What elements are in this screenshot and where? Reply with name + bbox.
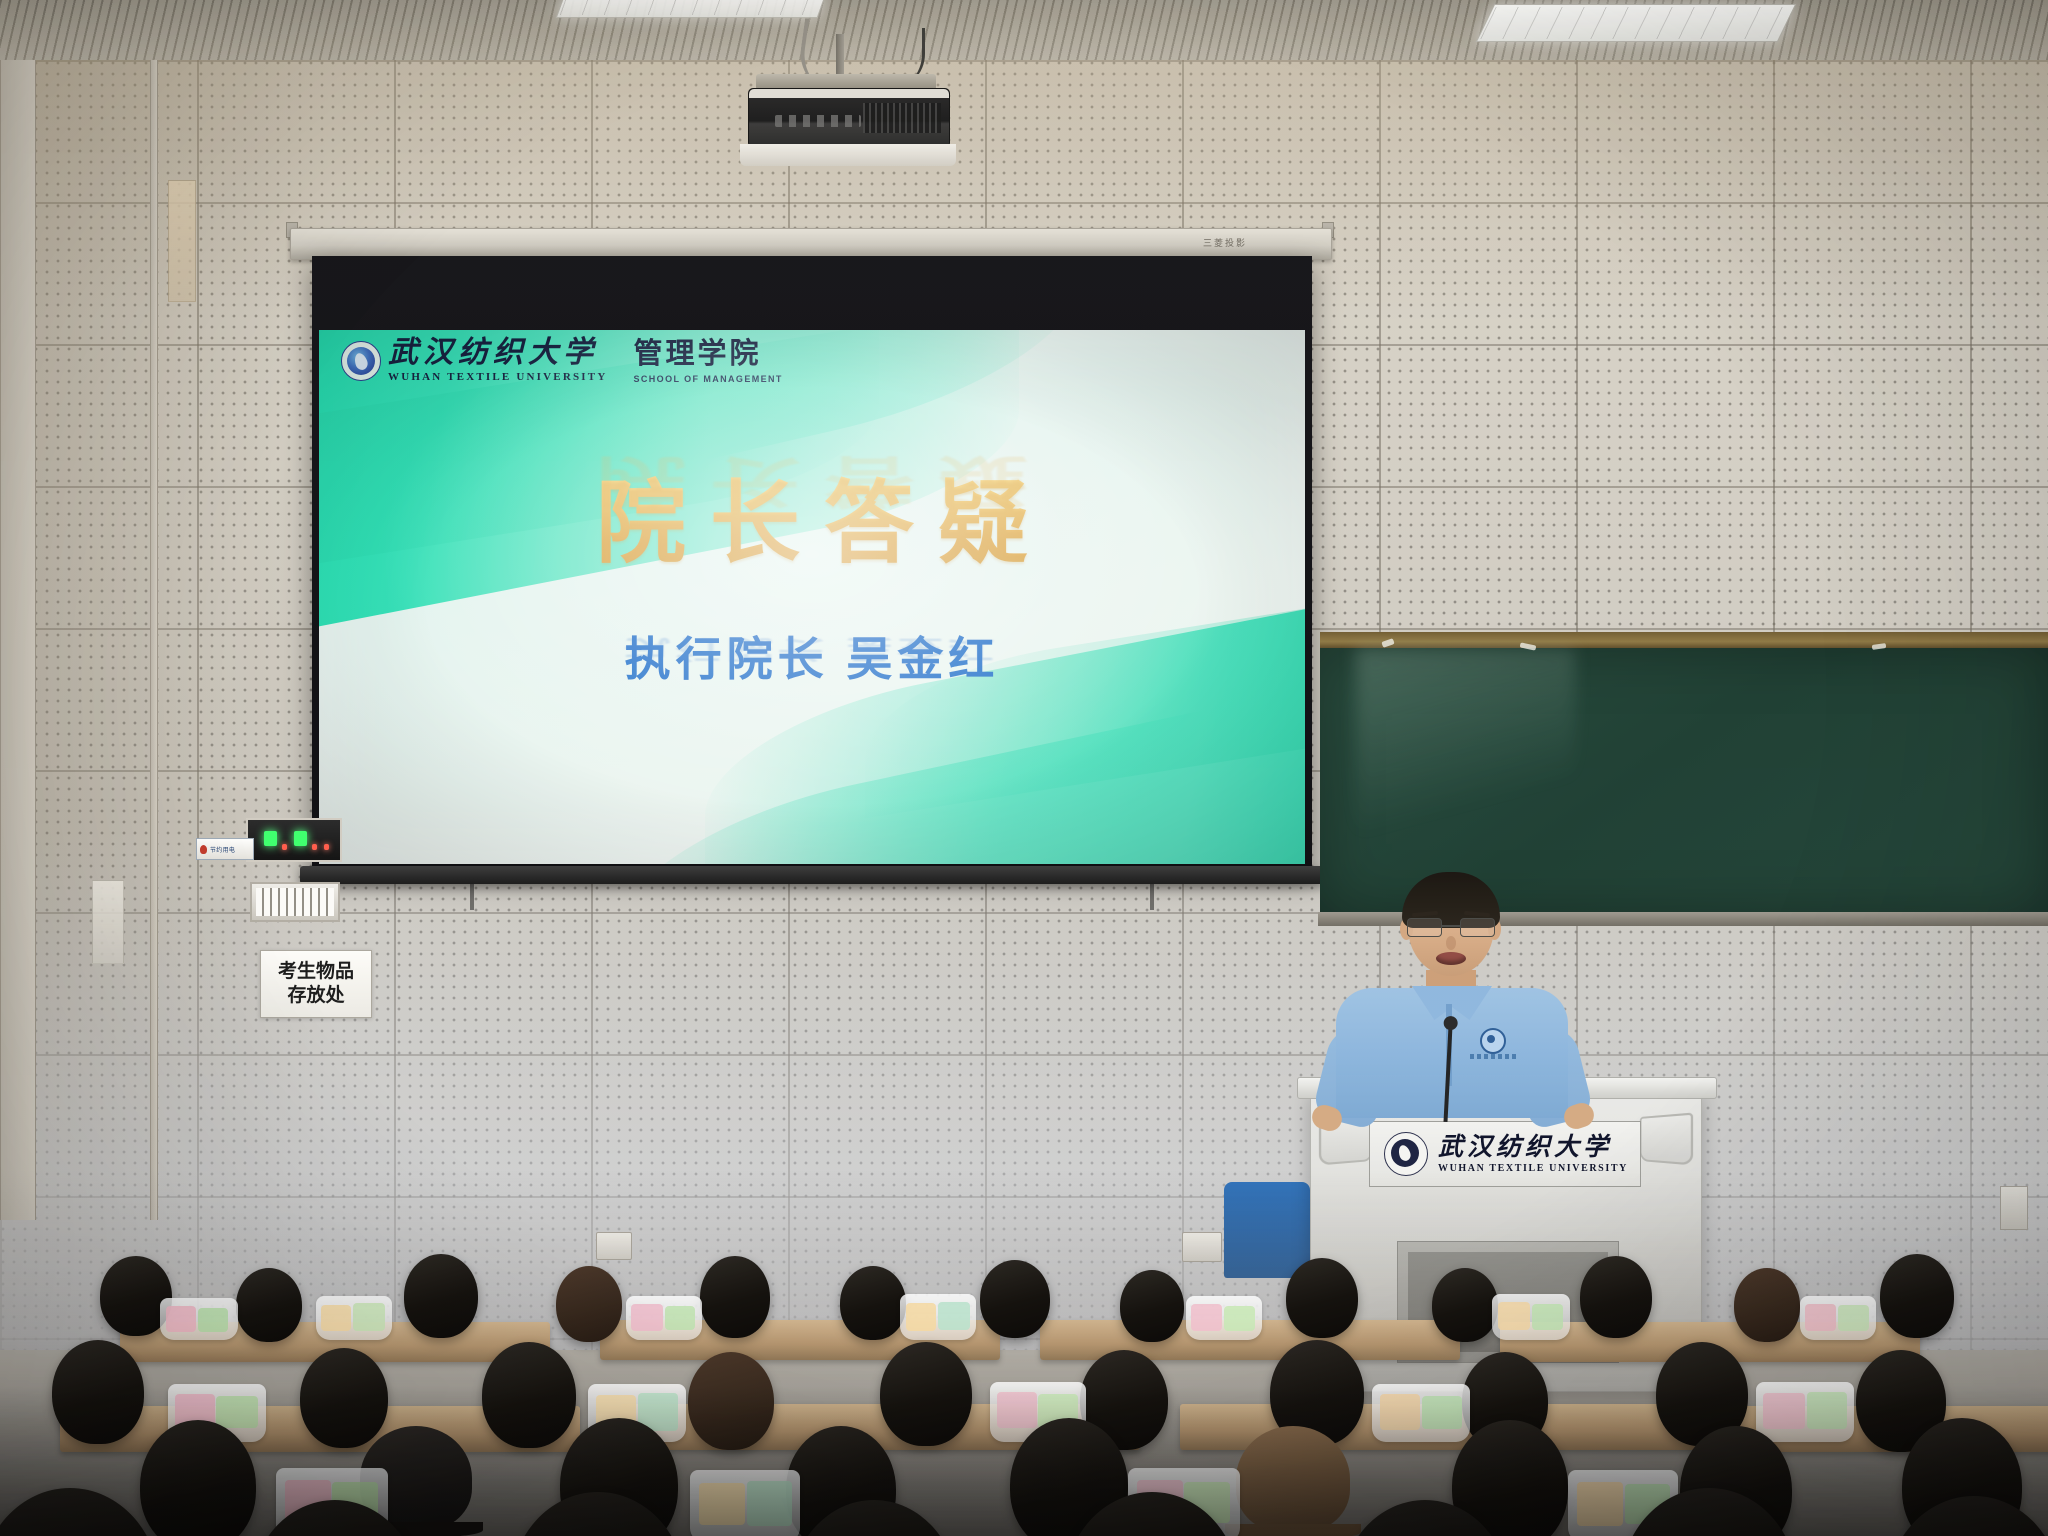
bag-item: [166, 1306, 196, 1332]
bag-item: [1805, 1304, 1836, 1331]
breaker-box[interactable]: [250, 882, 340, 922]
school-name-cn: 管理学院: [633, 340, 782, 369]
light-grid: [1480, 7, 1792, 39]
blackboard-top-rail: [1320, 632, 2048, 648]
bag-item: [699, 1483, 745, 1525]
projector-ports: [775, 115, 861, 127]
bag-item: [1498, 1302, 1530, 1330]
podium-university-cn: 武汉纺织大学: [1438, 1135, 1628, 1160]
belongings-bag: [160, 1298, 238, 1340]
bag-item: [997, 1392, 1037, 1428]
bag-item: [1763, 1393, 1805, 1429]
projected-slide: 武汉纺织大学 WUHAN TEXTILE UNIVERSITY 管理学院 SCH…: [319, 330, 1305, 864]
screen-bottom-bar: [300, 866, 1324, 884]
speaker-mouth: [1436, 952, 1466, 965]
bag-item: [1191, 1304, 1222, 1331]
glasses-lens-left: [1407, 918, 1442, 937]
school-name-en: SCHOOL OF MANAGEMENT: [633, 375, 782, 384]
bag-item: [321, 1305, 351, 1331]
bag-item: [1532, 1304, 1563, 1330]
indicator-led-red-2: [312, 844, 317, 850]
bag-item: [353, 1303, 385, 1331]
indicator-led-green-2: [294, 831, 307, 846]
audience-head: [1880, 1254, 1954, 1338]
bag-item: [747, 1481, 792, 1526]
audience-head: [840, 1266, 906, 1340]
slide-header: 武汉纺织大学 WUHAN TEXTILE UNIVERSITY 管理学院 SCH…: [341, 338, 783, 384]
audience-head: [404, 1254, 478, 1338]
speaker-glasses-icon: [1406, 918, 1496, 936]
belongings-bag: [1372, 1384, 1470, 1442]
speaker-person: [1330, 878, 1570, 1110]
indicator-led-red-3: [324, 844, 329, 850]
audience-head: [1120, 1270, 1184, 1342]
university-names: 武汉纺织大学 WUHAN TEXTILE UNIVERSITY: [388, 338, 607, 383]
bag-item: [906, 1303, 936, 1331]
belongings-bag: [900, 1294, 976, 1340]
audience-head: [52, 1340, 144, 1444]
speaker-shirt-logo-text: [1470, 1054, 1518, 1059]
speaker-shirt-logo-icon: [1480, 1028, 1506, 1054]
save-power-sign: 节约用电: [196, 838, 254, 860]
audience-head: [1580, 1256, 1652, 1338]
bag-item: [216, 1396, 258, 1428]
speaker-nose: [1446, 936, 1456, 950]
indicator-led-green-1: [264, 831, 277, 846]
podium-names: 武汉纺织大学 WUHAN TEXTILE UNIVERSITY: [1438, 1135, 1628, 1174]
exam-storage-line2: 存放处: [287, 984, 344, 1008]
audience-head: [1286, 1258, 1358, 1338]
exam-storage-line1: 考生物品: [278, 960, 354, 984]
bag-item: [1380, 1394, 1420, 1430]
belongings-bag: [626, 1296, 702, 1340]
slide-title: 院长答疑: [319, 450, 1305, 580]
audience-head: [880, 1342, 972, 1446]
bag-item: [1422, 1396, 1462, 1429]
bag-item: [631, 1304, 663, 1331]
belongings-bag: [690, 1470, 800, 1536]
belongings-bag: [1492, 1294, 1570, 1340]
podium-side-right: [1640, 1113, 1693, 1166]
audience-head: [700, 1256, 770, 1338]
bag-item: [1224, 1306, 1255, 1331]
indicator-led-red-1: [282, 844, 287, 850]
university-branding: 武汉纺织大学 WUHAN TEXTILE UNIVERSITY: [341, 338, 607, 383]
audience-head: [482, 1342, 576, 1448]
ceiling-projector: [748, 88, 950, 148]
university-name-en: WUHAN TEXTILE UNIVERSITY: [388, 372, 607, 383]
wall-strip-2: [150, 60, 158, 1220]
audience-area: [0, 1170, 2048, 1536]
blackboard-glare: [1356, 648, 1574, 862]
wall-strip-1: [0, 60, 36, 1220]
university-seal-icon: [341, 341, 381, 381]
projector-vents: [863, 103, 941, 133]
bag-item: [665, 1306, 695, 1330]
light-grid: [560, 0, 823, 15]
belongings-bag: [1800, 1296, 1876, 1340]
glasses-lens-right: [1460, 918, 1495, 937]
ceiling-light-panel-2: [556, 0, 827, 18]
audience-head: [688, 1352, 774, 1450]
audience-head: [300, 1348, 388, 1448]
audience-head: [1734, 1268, 1800, 1342]
ceiling-light-panel: [1476, 4, 1797, 42]
audience-head: [236, 1268, 302, 1342]
wall-notice-left-2: [92, 880, 124, 964]
slide-subtitle: 执行院长 吴金红: [319, 623, 1305, 689]
school-branding: 管理学院 SCHOOL OF MANAGEMENT: [633, 338, 782, 384]
screen-brand-label: 三菱投影: [1203, 236, 1247, 249]
lecture-hall-photo: 三菱投影 武汉纺织大学 WUHAN TEXTILE UNIVERSITY 管理学…: [0, 0, 2048, 1536]
audience-head: [556, 1266, 622, 1342]
projector-top: [749, 89, 949, 98]
university-name-cn: 武汉纺织大学: [388, 338, 607, 368]
save-power-icon: [200, 845, 207, 854]
audience-cap: [1236, 1426, 1350, 1532]
audience-head: [980, 1260, 1050, 1338]
bag-item: [198, 1308, 228, 1332]
save-power-label: 节约用电: [210, 845, 235, 854]
belongings-bag: [316, 1296, 392, 1340]
wall-notice-left: [168, 180, 196, 302]
bag-item: [1807, 1392, 1847, 1429]
projector-base: [740, 144, 956, 166]
bag-item: [938, 1302, 970, 1330]
belongings-bag: [1756, 1382, 1854, 1442]
bag-item: [1577, 1482, 1623, 1526]
audience-head: [1432, 1268, 1498, 1342]
bag-item: [1838, 1305, 1869, 1331]
breaker-switches[interactable]: [256, 888, 334, 916]
exam-storage-sign: 考生物品 存放处: [260, 950, 372, 1018]
speaker-shirt: [1336, 988, 1568, 1118]
electrical-indicator-panel[interactable]: [246, 818, 342, 862]
belongings-bag: [1186, 1296, 1262, 1340]
